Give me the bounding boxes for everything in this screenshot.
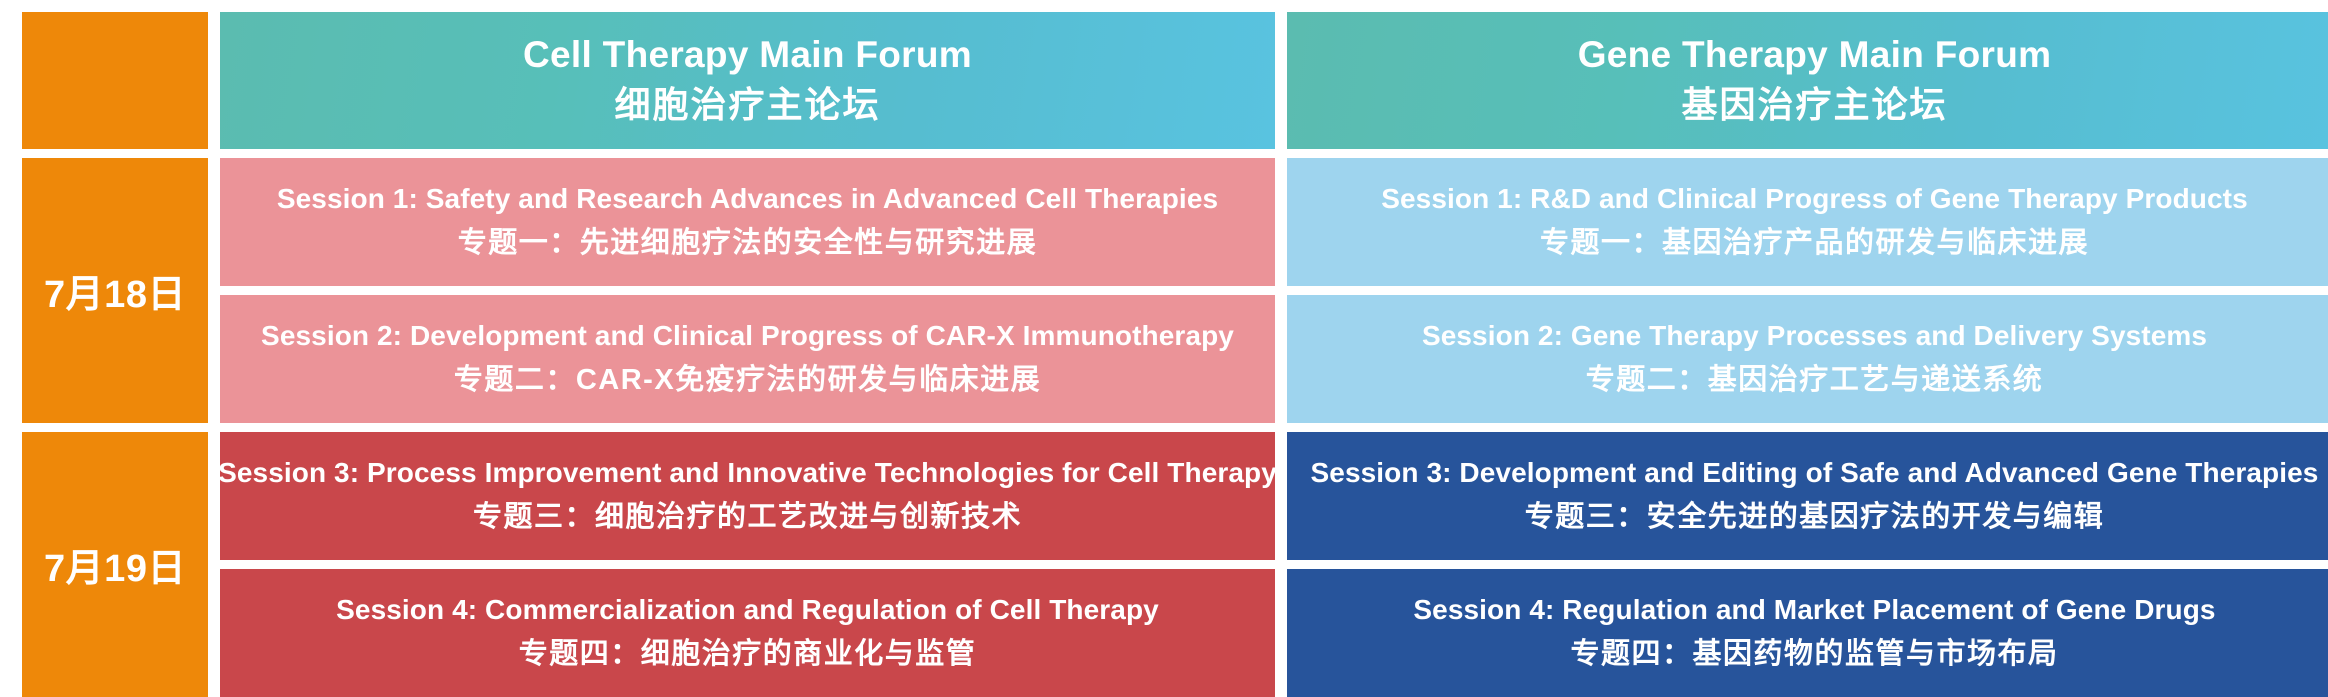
forum-title-cn: 基因治疗主论坛 — [1681, 82, 1947, 129]
date-column-header — [22, 12, 208, 149]
forum-title-en: Gene Therapy Main Forum — [1578, 32, 2052, 78]
session-title-cn: 专题一：先进细胞疗法的安全性与研究进展 — [458, 224, 1038, 263]
session-title-en: Session 1: Safety and Research Advances … — [277, 181, 1218, 217]
forum-header-cell-therapy: Cell Therapy Main Forum 细胞治疗主论坛 — [220, 12, 1275, 149]
session-title-cn: 专题三：细胞治疗的工艺改进与创新技术 — [473, 498, 1022, 537]
session-cell-day1-cell-therapy-1[interactable]: Session 1: Safety and Research Advances … — [220, 158, 1275, 286]
session-title-cn: 专题一：基因治疗产品的研发与临床进展 — [1540, 224, 2089, 263]
date-cell-day-2: 7月19日 — [22, 432, 208, 697]
session-title-en: Session 3: Development and Editing of Sa… — [1311, 455, 2319, 491]
forum-header-gene-therapy: Gene Therapy Main Forum 基因治疗主论坛 — [1287, 12, 2328, 149]
date-cell-day-1: 7月18日 — [22, 158, 208, 423]
forum-title-cn: 细胞治疗主论坛 — [614, 82, 880, 129]
session-title-cn: 专题四：基因药物的监管与市场布局 — [1570, 635, 2058, 674]
forum-title-en: Cell Therapy Main Forum — [523, 32, 972, 78]
session-cell-day2-gene-therapy-2[interactable]: Session 4: Regulation and Market Placeme… — [1287, 569, 2328, 697]
session-title-cn: 专题二：基因治疗工艺与递送系统 — [1586, 361, 2044, 400]
session-title-en: Session 1: R&D and Clinical Progress of … — [1381, 181, 2248, 217]
session-title-cn: 专题三：安全先进的基因疗法的开发与编辑 — [1525, 498, 2105, 537]
session-cell-day2-gene-therapy-1[interactable]: Session 3: Development and Editing of Sa… — [1287, 432, 2328, 560]
session-title-en: Session 4: Regulation and Market Placeme… — [1413, 592, 2215, 628]
session-cell-day2-cell-therapy-2[interactable]: Session 4: Commercialization and Regulat… — [220, 569, 1275, 697]
session-cell-day1-cell-therapy-2[interactable]: Session 2: Development and Clinical Prog… — [220, 295, 1275, 423]
session-title-en: Session 2: Development and Clinical Prog… — [261, 318, 1234, 354]
conference-schedule-table: Cell Therapy Main Forum 细胞治疗主论坛 Gene The… — [0, 0, 2328, 646]
session-cell-day1-gene-therapy-2[interactable]: Session 2: Gene Therapy Processes and De… — [1287, 295, 2328, 423]
session-cell-day2-cell-therapy-1[interactable]: Session 3: Process Improvement and Innov… — [220, 432, 1275, 560]
session-cell-day1-gene-therapy-1[interactable]: Session 1: R&D and Clinical Progress of … — [1287, 158, 2328, 286]
session-title-cn: 专题四：细胞治疗的商业化与监管 — [519, 635, 977, 674]
session-title-en: Session 4: Commercialization and Regulat… — [336, 592, 1159, 628]
session-title-cn: 专题二：CAR-X免疫疗法的研发与临床进展 — [454, 361, 1041, 400]
session-title-en: Session 3: Process Improvement and Innov… — [220, 455, 1275, 491]
session-title-en: Session 2: Gene Therapy Processes and De… — [1422, 318, 2207, 354]
